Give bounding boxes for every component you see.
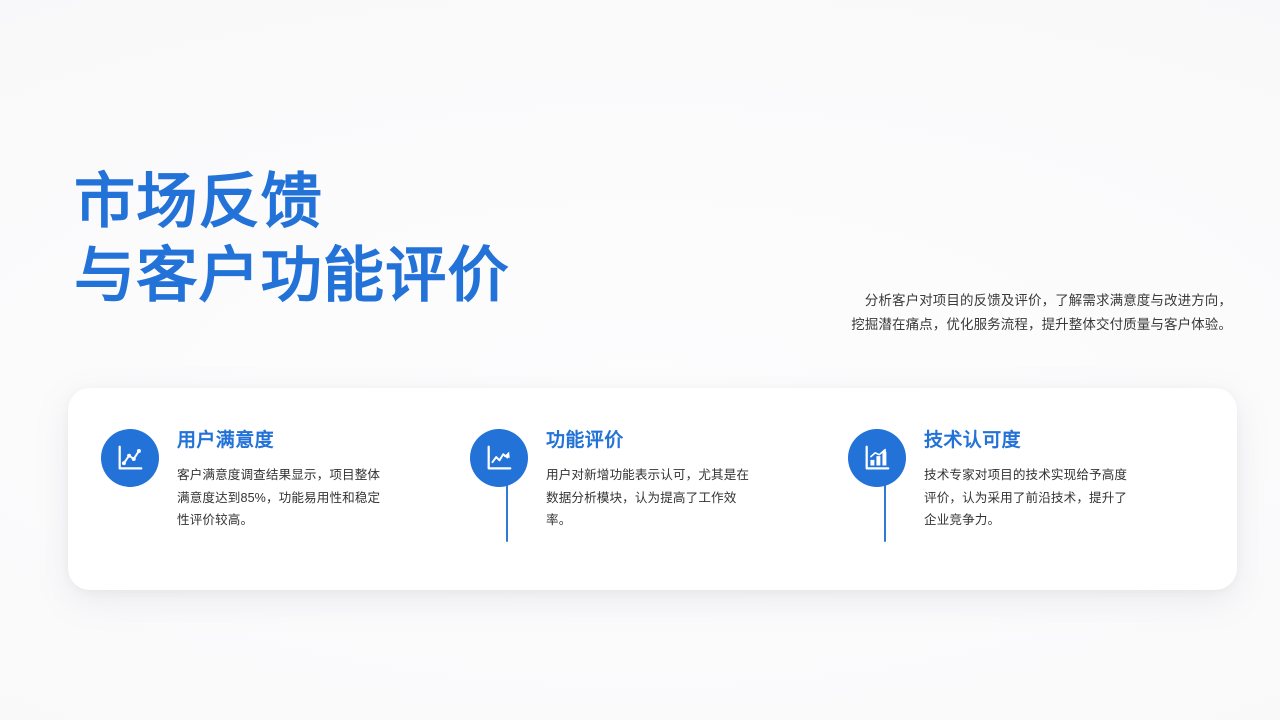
card-text-block: 技术认可度 技术专家对项目的技术实现给予高度评价，认为采用了前沿技术，提升了企业… (924, 427, 1136, 532)
card-text-block: 功能评价 用户对新增功能表示认可，尤其是在数据分析模块，认为提高了工作效率。 (546, 427, 756, 532)
card-user-satisfaction[interactable]: 用户满意度 客户满意度调查结果显示，项目整体满意度达到85%，功能易用性和稳定性… (68, 388, 438, 532)
page-title-line-2: 与客户功能评价 (74, 242, 727, 310)
subtitle-line-2: 挖掘潜在痛点，优化服务流程，提升整体交付质量与客户体验。 (762, 313, 1232, 337)
bar-chart-icon (848, 429, 906, 487)
card-description: 客户满意度调查结果显示，项目整体满意度达到85%，功能易用性和稳定性评价较高。 (177, 464, 385, 532)
subtitle-line-1: 分析客户对项目的反馈及评价，了解需求满意度与改进方向， (762, 289, 1232, 313)
card-technical-recognition[interactable]: 技术认可度 技术专家对项目的技术实现给予高度评价，认为采用了前沿技术，提升了企业… (816, 388, 1236, 532)
card-description: 用户对新增功能表示认可，尤其是在数据分析模块，认为提高了工作效率。 (546, 464, 756, 532)
trend-up-chart-icon (470, 429, 528, 487)
slide-canvas: 市场反馈 与客户功能评价 分析客户对项目的反馈及评价，了解需求满意度与改进方向，… (0, 0, 1280, 720)
card-title: 用户满意度 (177, 429, 385, 453)
line-chart-icon (101, 429, 159, 487)
card-text-block: 用户满意度 客户满意度调查结果显示，项目整体满意度达到85%，功能易用性和稳定性… (177, 427, 385, 532)
card-columns: 用户满意度 客户满意度调查结果显示，项目整体满意度达到85%，功能易用性和稳定性… (68, 388, 1237, 590)
page-title-line-1: 市场反馈 (74, 168, 727, 236)
card-title: 技术认可度 (924, 429, 1136, 453)
card-description: 技术专家对项目的技术实现给予高度评价，认为采用了前沿技术，提升了企业竞争力。 (924, 464, 1136, 532)
card-title: 功能评价 (546, 429, 756, 453)
card-feature-evaluation[interactable]: 功能评价 用户对新增功能表示认可，尤其是在数据分析模块，认为提高了工作效率。 (438, 388, 816, 532)
feedback-card-panel: 用户满意度 客户满意度调查结果显示，项目整体满意度达到85%，功能易用性和稳定性… (68, 388, 1237, 590)
page-title: 市场反馈 与客户功能评价 (74, 168, 714, 310)
subtitle-description: 分析客户对项目的反馈及评价，了解需求满意度与改进方向， 挖掘潜在痛点，优化服务流… (762, 289, 1232, 337)
